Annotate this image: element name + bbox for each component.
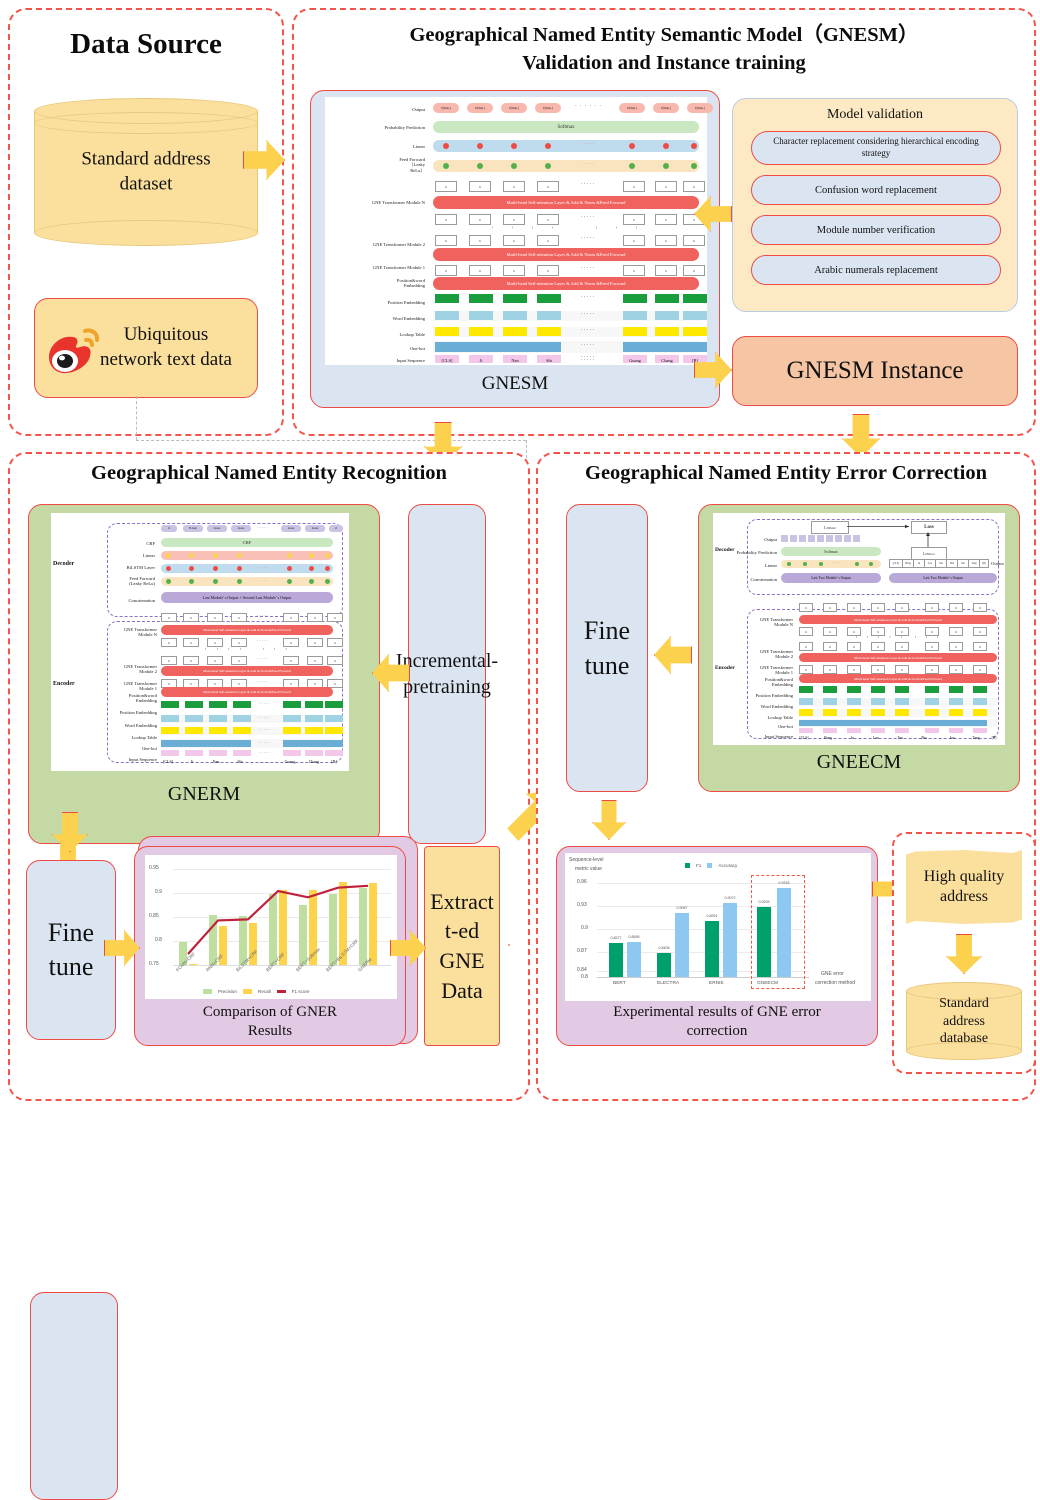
data-label: 0.9087 (671, 906, 693, 910)
gnerm-row-bilstm: BiLSTM Layer (109, 565, 155, 570)
gneecm-row-output: Output (741, 537, 777, 542)
dataset-label-line1: Standard address (34, 147, 258, 172)
concatenation-band: Last Module' s Output + Second Last Modu… (161, 592, 333, 603)
gnerm-row-feedforward: Feed Forward(Leaky ReLu) (103, 576, 155, 587)
y-axis-title-line2: metric value (575, 866, 602, 872)
page-title-gnesm-line2: Validation and Instance training (294, 52, 1034, 76)
posword-embedding-row: · · · · · (433, 294, 699, 304)
gnerm-row-concat: Concatenation (101, 598, 155, 603)
ytick-label-base: 0.8 (581, 974, 588, 980)
ubiquitous-label: Ubiquitous network text data (100, 323, 232, 372)
bar-f1 (657, 953, 671, 977)
gneecm-card[interactable]: Decoder Lossdet Loss Losscor Output Prob… (698, 504, 1020, 792)
f1-score-line (145, 855, 397, 999)
gnerm-attention-1: Mutli-head Self-attention Layer & Add & … (161, 687, 333, 697)
gnerm-row-lookup: Lookup Table (109, 735, 157, 740)
page-title-data-source: Data Source (10, 28, 282, 61)
output-token: P(X|m,) (619, 103, 645, 113)
legend-swatch-precision (203, 989, 212, 994)
gneecm-row-word: Word Embedding (749, 704, 793, 709)
input-token: [CLS] (793, 736, 815, 740)
input-token: Nan (499, 358, 531, 363)
gnerm-attention-2: Mutli-head Self-attention Layer & Add & … (161, 666, 333, 676)
gnerm-row-module-n: GNE Transformer Module N (109, 627, 157, 638)
arch-row-label-linear: Linear (333, 144, 425, 149)
input-token: Hong (817, 736, 839, 740)
ytick-label: 0.84 (577, 967, 587, 973)
output-token: P(X|m,) (501, 103, 527, 113)
gnerm-input-sequence: [CLS] Ji Nan Shi · · · · · Guang Chang [… (157, 759, 337, 768)
linear-band: · · · · · (433, 140, 699, 152)
lookup-table-row: · · · · · (433, 341, 699, 353)
arrow-high-quality-to-database (946, 934, 982, 974)
legend-swatch-f1 (277, 990, 286, 993)
db-line2: address (906, 1012, 1022, 1030)
gneecm-concat-right: Last Two Module' s Output (889, 573, 997, 583)
arch-row-label-output: Output (333, 107, 425, 112)
gneecm-row-module-n: GNE Transformer Module N (749, 617, 793, 628)
high-quality-line2: address (924, 887, 1004, 907)
xtick-label: BERT (613, 981, 626, 986)
position-embedding-row: · · · · · (433, 311, 699, 321)
hidden-cell-row: h h h h · · · · · h h h (433, 181, 699, 190)
input-token: Ji (465, 358, 497, 363)
output-token: P(X|m,) (467, 103, 493, 113)
gneecm-output-tokens (781, 535, 867, 542)
panel-output-chain: High quality address Standard address da… (892, 832, 1036, 1074)
gnerm-position-row: · · · · · (161, 715, 333, 723)
gneecm-input-sequence: [CLS] Hong Ju Lou Tan Zhu Jun Tang [B] (795, 736, 1001, 744)
caption-line2: Results (135, 1022, 405, 1041)
gneecm-cell-row: h h h h h h h h (799, 627, 997, 634)
input-token: Lou (865, 736, 887, 740)
fine-tune-right-label: Fine tune (567, 613, 647, 683)
extracted-gne-data-label: Extract t-ed GNE Data (425, 887, 499, 1006)
input-token: [CLS] (431, 358, 463, 363)
legend-label-f1: F1 score (292, 989, 310, 994)
gnerm-row-linear: Linear (109, 553, 155, 558)
gnerm-row-module-1: GNE Transformer Module 1 (109, 681, 157, 692)
arch-row-label-inputseq: Input Sequence (333, 358, 425, 363)
gneecm-word-row (799, 709, 997, 717)
input-token: Nan (203, 759, 229, 764)
legend-label-recall: Recall (258, 989, 271, 994)
ytick-label: 0.93 (577, 902, 587, 908)
decoder-label: Decoder (53, 561, 74, 567)
feedforward-band: · · · · · (433, 160, 699, 172)
gnerm-row-inputseq: Input Sequence (109, 757, 157, 762)
attention-band-2: Mutli-head Self-attention Layer & Add & … (433, 248, 699, 261)
page-title-gnesm-line1: Geographical Named Entity Semantic Model… (294, 24, 1034, 48)
arch-row-label-word: Word Embedding (333, 316, 425, 321)
arch-row-label-onehot: One-hot (333, 346, 425, 351)
chart-legend: Precision Recall F1 score (203, 989, 310, 994)
standard-address-database-cylinder[interactable]: Standard address database (906, 982, 1022, 1060)
gneecm-row-module-1: GNE Transformer Module 1 (749, 665, 793, 676)
data-label: 0.9316 (773, 881, 795, 885)
output-token: P(X|m,) (687, 103, 713, 113)
input-sequence-row: [CLS] Ji Nan Shi · · · · · Guang Chang [… (433, 356, 699, 368)
arch-row-label-module-1: GNE Transformer Module 1 (329, 265, 425, 270)
cylinder-ring (34, 112, 258, 134)
gneecm-linear-band: · · · · · (781, 560, 881, 568)
model-validation-title: Model validation (733, 107, 1017, 123)
validation-item-label: Confusion word replacement (815, 185, 937, 196)
gneecm-encoder-label: Encoder (715, 665, 735, 671)
database-label: Standard address database (906, 995, 1022, 1048)
incremental-pretraining-label: Incremental-pretraining (396, 648, 498, 700)
xtick-label: GNEECM (757, 981, 778, 986)
data-label: 0.9072 (719, 896, 741, 900)
connector-weibo-down (136, 396, 138, 440)
validation-item-confusion-word[interactable]: Confusion word replacement (751, 175, 1001, 205)
gnerm-attention-n: Mutli-head Self-attention Layer & Add & … (161, 625, 333, 635)
connector-weibo-horizontal (136, 440, 526, 442)
gnerm-feedforward-band: · · · · (161, 577, 333, 586)
validation-item-module-number[interactable]: Module number verification (751, 215, 1001, 245)
bar-f1 (757, 907, 771, 977)
legend-swatch-accuracy (707, 863, 712, 868)
encoder-label: Encoder (53, 681, 75, 687)
input-token: Zhu (913, 736, 935, 740)
gneecm-row-onehot: One-hot (749, 724, 793, 729)
fine-tune-left-label: Fine tune (27, 916, 115, 984)
caption-line2: correction (557, 1022, 877, 1041)
gneec-chart-caption: Experimental results of GNE error correc… (557, 1003, 877, 1041)
gnerm-row-word: Word Embedding (109, 723, 157, 728)
gneecm-row-inputseq: Input Sequence (749, 734, 793, 739)
input-token: Jun (941, 736, 963, 740)
gneecm-row-concat: Concatenation (733, 577, 777, 582)
input-token: Ju (841, 736, 863, 740)
gnerm-onehot-row: · · · · · (161, 750, 333, 757)
input-token: Ji (179, 759, 205, 764)
gnesm-instance-box[interactable]: GNESM Instance (732, 336, 1018, 406)
attention-band-1: Mutli-head Self-attention Layer & Add & … (433, 277, 699, 290)
validation-item-label: Character replacement considering hierar… (762, 136, 990, 159)
crf-band: CRF (161, 538, 333, 547)
gnerm-row-position: Position Embedding (109, 710, 157, 715)
gneecm-cell-row: h h h h h h h h (799, 665, 997, 672)
dataset-label: Standard address dataset (34, 147, 258, 196)
gneecm-right-tokens: [CLS] Hong Ju Lou Tan Zhu Jun Tang [B] (889, 559, 989, 567)
dataset-label-line2: dataset (34, 172, 258, 197)
gneecm-row-lookup: Lookup Table (749, 715, 793, 720)
gnerm-output-tokens: O B-Gate I-Gate I-Gate · · · · · I-Gate … (161, 525, 333, 533)
gneecm-row-posword: Position&word Embedding (749, 677, 793, 688)
gneecm-architecture-figure: Decoder Lossdet Loss Losscor Output Prob… (713, 513, 1005, 745)
gner-comparison-chart: 0.95 0.9 0.85 0.8 0.75 FCNN+CRF RNN+ (145, 855, 397, 999)
ytick-label: 0.9 (581, 925, 588, 931)
legend-label-f1: F1 (696, 863, 701, 868)
input-token: Shi (533, 358, 565, 363)
ubiquitous-network-text-data-box[interactable]: Ubiquitous network text data (34, 298, 258, 398)
output-token: P(X|m,) (535, 103, 561, 113)
validation-item-label: Module number verification (817, 225, 935, 236)
input-token: Guang (277, 759, 303, 764)
input-token: [CLS] (155, 759, 181, 764)
fine-tune-left-box[interactable] (30, 1292, 118, 1500)
y-axis-title-line1: Sequence-level (569, 857, 603, 863)
gneecm-onehot-row (799, 728, 997, 734)
ellipsis: · · · · · · (575, 104, 602, 109)
gnerm-cell-row: h h h h · · · · · h h h (161, 613, 333, 620)
bar-accuracy (675, 913, 689, 977)
page-title-gneec: Geographical Named Entity Error Correcti… (538, 462, 1034, 486)
hidden-cell-row: h h h h · · · · · h h h (433, 265, 699, 274)
gne-error-correction-chart: Sequence-level metric value GNE error co… (565, 853, 871, 1001)
gnerm-architecture-figure: Decoder CRF Linear BiLSTM Layer Feed For… (51, 513, 349, 771)
gnesm-instance-label: GNESM Instance (786, 357, 963, 385)
arch-row-label-module-n: GNE Transformer Module N (329, 200, 425, 205)
gneecm-attention-1: Mutli-head Self-attention Layer & Add & … (799, 674, 997, 683)
word-embedding-row: · · · · · (433, 327, 699, 337)
gnesm-architecture-figure: Output Probability Prediction Linear Fee… (325, 97, 707, 365)
gneecm-attention-n: Mutli-head Self-attention Layer & Add & … (799, 615, 997, 624)
db-line1: Standard (906, 995, 1022, 1013)
high-quality-line1: High quality (924, 867, 1004, 887)
hidden-cell-row: h h h h · · · · · h h h (433, 214, 699, 223)
arch-row-label-feedforward: Feed Forward（LeakyReLu） (333, 157, 425, 173)
output-token: P(X|m,) (653, 103, 679, 113)
gnerm-cell-row: h h h h · · · · · h h h (161, 679, 333, 686)
bilstm-band: · · · · (161, 564, 333, 573)
cylinder-bottom (34, 220, 258, 246)
ubiquitous-label-line1: Ubiquitous (100, 323, 232, 348)
gner-chart-caption: Comparison of GNER Results (135, 1003, 405, 1041)
gnesm-model-card[interactable]: Output Probability Prediction Linear Fee… (310, 90, 720, 408)
bar-accuracy (777, 888, 791, 977)
validation-item-label: Arabic numerals replacement (814, 265, 938, 276)
incremental-pretraining-box[interactable]: Incremental-pretraining (408, 504, 486, 844)
caption-line1: Comparison of GNER (135, 1003, 405, 1022)
arch-row-label-probability: Probability Prediction (333, 125, 425, 130)
gneecm-row-linear: Linear (741, 563, 777, 568)
db-line3: database (906, 1030, 1022, 1048)
arrow-gneecm-to-finetune (654, 636, 692, 674)
gneecm-posword-row (799, 686, 997, 694)
gnerm-caption: GNERM (29, 783, 379, 806)
ubiquitous-label-line2: network text data (100, 348, 232, 373)
data-label: 0.8408 (653, 946, 675, 950)
gnerm-linear-band: · · · · (161, 551, 333, 560)
panel-gnesm: Geographical Named Entity Semantic Model… (292, 8, 1036, 436)
arch-output-token-row: P(X|m,) P(X|m,) P(X|m,) P(X|m,) · · · · … (433, 103, 697, 114)
xtick-label: ERNIE (709, 981, 724, 986)
ytick-label: 0.96 (577, 879, 587, 885)
gner-comparison-card[interactable]: 0.95 0.9 0.85 0.8 0.75 FCNN+CRF RNN+ (134, 846, 406, 1046)
panel-data-source: Data Source Standard address dataset Ubi… (8, 8, 284, 436)
gneecm-attention-2: Mutli-head Self-attention Layer & Add & … (799, 653, 997, 662)
gnerm-row-onehot: One-hot (109, 746, 157, 751)
x-axis-title-line2: correction method (815, 980, 855, 986)
gnerm-row-module-2: GNE Transformer Module 2 (109, 664, 157, 675)
data-label: 0.8991 (701, 914, 723, 918)
validation-item-character-replacement[interactable]: Character replacement considering hierar… (751, 131, 1001, 165)
legend-swatch-recall (243, 989, 252, 994)
gnerm-row-crf: CRF (109, 541, 155, 546)
vertical-ellipsis-row: ⁞ ⁞ ⁞ ⁞ ⁞ ⁞ ⁞ (433, 225, 699, 230)
gnerm-lookup-row: · · · · · (161, 739, 333, 748)
weibo-logo-icon (41, 317, 105, 381)
page-title-gner: Geographical Named Entity Recognition (10, 462, 528, 486)
arch-row-label-lookup: Lookup Table (333, 332, 425, 337)
gnerm-word-row: · · · · · (161, 727, 333, 735)
fine-tune-left[interactable]: Fine tune (26, 860, 116, 1040)
gnerm-cell-row: h h h h · · · · · h h h (161, 638, 333, 645)
gnerm-posword-row: · · · · · (161, 701, 333, 709)
bar-f1 (705, 921, 719, 977)
gnerm-cell-row: h h h h · · · · · h h h (161, 656, 333, 663)
high-quality-address-box[interactable]: High quality address (906, 850, 1022, 924)
input-token: Tan (889, 736, 911, 740)
gneecm-cell-row: h h h h h h h h (799, 642, 997, 649)
model-validation-card: Model validation Character replacement c… (732, 98, 1018, 312)
input-token: Tang (965, 736, 987, 740)
ytick-label: 0.87 (577, 948, 587, 954)
legend-swatch-f1 (685, 863, 690, 868)
fine-tune-right-box[interactable]: Fine tune (566, 504, 648, 792)
bar-accuracy (723, 903, 737, 977)
gneecm-row-module-2: GNE Transformer Module 2 (749, 649, 793, 660)
softmax-band: Softmax (433, 121, 699, 133)
gneecm-row-position: Position Embedding (749, 693, 793, 698)
validation-item-arabic-numerals[interactable]: Arabic numerals replacement (751, 255, 1001, 285)
gnerm-row-posword: Position&word Embedding (109, 693, 157, 704)
caption-line1: Experimental results of GNE error (557, 1003, 877, 1022)
gneecm-lookup-row (799, 719, 997, 727)
input-token: [B] (321, 759, 347, 764)
input-token: [B] (985, 736, 1003, 740)
attention-band-n: Mutli-head Self-attention Layer & Add & … (433, 196, 699, 209)
gneecm-caption: GNEECM (699, 751, 1019, 774)
bar-f1 (609, 943, 623, 977)
gnesm-caption: GNESM (311, 373, 719, 395)
gneecm-position-row (799, 698, 997, 706)
gneecm-output-right-label: Output (991, 561, 1005, 566)
data-label: 0.9205 (753, 900, 775, 904)
gneecm-row-prob: Probability Prediction (733, 550, 777, 555)
standard-address-dataset-cylinder: Standard address dataset (34, 98, 258, 246)
input-token: Guang (619, 358, 651, 363)
xtick-label: ELECTRA (657, 981, 679, 986)
arch-row-label-posword: Position&wordEmbedding (333, 278, 425, 289)
hidden-cell-row: h h h h · · · · · h h h (433, 235, 699, 244)
bar-accuracy (627, 942, 641, 977)
extracted-gne-data-box[interactable]: Extract t-ed GNE Data (424, 846, 500, 1046)
gneecm-softmax-band: Softmax (781, 547, 881, 556)
data-label: 0.8595 (623, 935, 645, 939)
arch-row-label-position: Position Embedding (333, 300, 425, 305)
arch-row-label-module-2: GNE Transformer Module 2 (329, 242, 425, 247)
chart-legend: F1 Accuracy (685, 863, 737, 868)
input-token: Shi (227, 759, 253, 764)
gneecm-concat-left: Last Two Module' s Output (781, 573, 881, 583)
gnerm-card[interactable]: Decoder CRF Linear BiLSTM Layer Feed For… (28, 504, 380, 844)
gneecm-cell-row: h h h h h h h h (799, 603, 997, 610)
legend-label-accuracy: Accuracy (718, 863, 737, 868)
output-token: P(X|m,) (433, 103, 459, 113)
gne-error-correction-card[interactable]: Sequence-level metric value GNE error co… (556, 846, 878, 1046)
legend-label-precision: Precision (218, 989, 237, 994)
x-axis-title-line1: GNE error (821, 971, 844, 977)
